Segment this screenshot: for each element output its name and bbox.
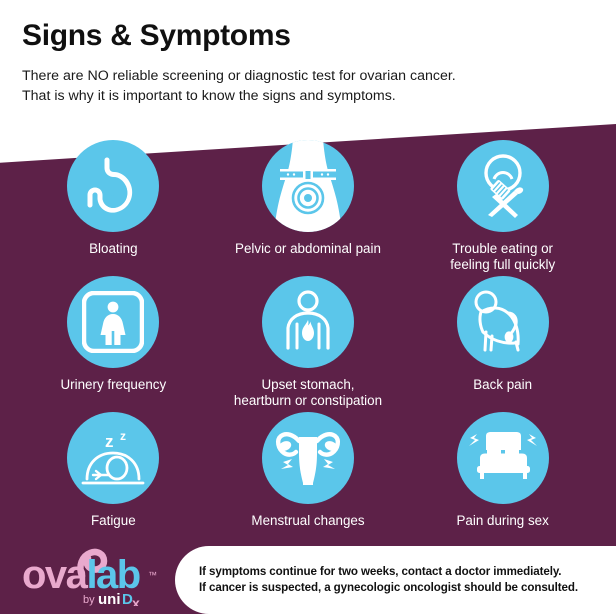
header: Signs & Symptoms There are NO reliable s… bbox=[0, 0, 616, 106]
symptom-label: Pain during sex bbox=[457, 513, 549, 529]
torso-flame-icon bbox=[276, 290, 340, 354]
abdomen-belt-target-icon bbox=[262, 140, 354, 232]
svg-text:z: z bbox=[105, 432, 114, 451]
logo-word-ova: ova bbox=[22, 553, 89, 597]
symptom-badge bbox=[457, 140, 549, 232]
symptom-badge bbox=[262, 140, 354, 232]
symptom-item-menstrual-changes: Menstrual changes bbox=[211, 412, 406, 548]
symptom-item-back-pain: Back pain bbox=[405, 276, 600, 412]
footer: If symptoms continue for two weeks, cont… bbox=[0, 538, 616, 614]
subtitle-line-1: There are NO reliable screening or diagn… bbox=[22, 66, 594, 86]
logo-trademark: ™ bbox=[148, 570, 157, 580]
logo-byline-brand-x: x bbox=[132, 595, 140, 606]
footer-advice-box: If symptoms continue for two weeks, cont… bbox=[175, 546, 616, 614]
symptom-label: Urinery frequency bbox=[60, 377, 166, 393]
bed-lightning-icon bbox=[466, 428, 540, 488]
symptom-item-pain-during-sex: Pain during sex bbox=[405, 412, 600, 548]
plate-fork-knife-icon bbox=[471, 153, 535, 219]
symptom-badge bbox=[262, 412, 354, 504]
symptom-item-trouble-eating: Trouble eating or feeling full quickly bbox=[405, 140, 600, 276]
person-back-pain-icon bbox=[469, 288, 537, 356]
symptom-label: Back pain bbox=[473, 377, 532, 393]
uterus-lightning-icon bbox=[272, 427, 344, 489]
symptom-label: Menstrual changes bbox=[251, 513, 364, 529]
page-title: Signs & Symptoms bbox=[22, 18, 594, 54]
stomach-icon bbox=[83, 155, 143, 217]
symptom-label: Fatigue bbox=[91, 513, 136, 529]
symptom-badge bbox=[67, 140, 159, 232]
symptom-grid: Bloating bbox=[0, 140, 616, 548]
logo-byline-brand: uni bbox=[98, 591, 121, 606]
sleeping-person-zzz-icon: z z bbox=[79, 427, 147, 489]
symptom-badge bbox=[457, 276, 549, 368]
footer-note-line-2: If cancer is suspected, a gynecologic on… bbox=[199, 580, 606, 596]
page-subtitle: There are NO reliable screening or diagn… bbox=[22, 66, 594, 106]
symptom-label: Trouble eating or feeling full quickly bbox=[450, 241, 555, 273]
symptom-badge bbox=[67, 276, 159, 368]
symptom-label: Bloating bbox=[89, 241, 137, 257]
symptom-label: Upset stomach, heartburn or constipation bbox=[234, 377, 382, 409]
ovalab-logo[interactable]: ovalab ™ by uni D x bbox=[22, 544, 172, 606]
symptom-item-bloating: Bloating bbox=[16, 140, 211, 276]
symptom-badge bbox=[262, 276, 354, 368]
restroom-female-sign-icon bbox=[82, 291, 144, 353]
symptom-item-upset-stomach: Upset stomach, heartburn or constipation bbox=[211, 276, 406, 412]
footer-note-line-1: If symptoms continue for two weeks, cont… bbox=[199, 564, 606, 580]
symptom-item-urinary-frequency: Urinery frequency bbox=[16, 276, 211, 412]
subtitle-line-2: That is why it is important to know the … bbox=[22, 86, 594, 106]
symptom-item-pelvic-pain: Pelvic or abdominal pain bbox=[211, 140, 406, 276]
symptom-item-fatigue: z z Fatigue bbox=[16, 412, 211, 548]
symptom-badge bbox=[457, 412, 549, 504]
infographic-root: Signs & Symptoms There are NO reliable s… bbox=[0, 0, 616, 614]
svg-text:z: z bbox=[120, 429, 126, 443]
logo-byline-prefix: by bbox=[83, 594, 95, 606]
symptom-badge: z z bbox=[67, 412, 159, 504]
symptom-label: Pelvic or abdominal pain bbox=[235, 241, 381, 257]
